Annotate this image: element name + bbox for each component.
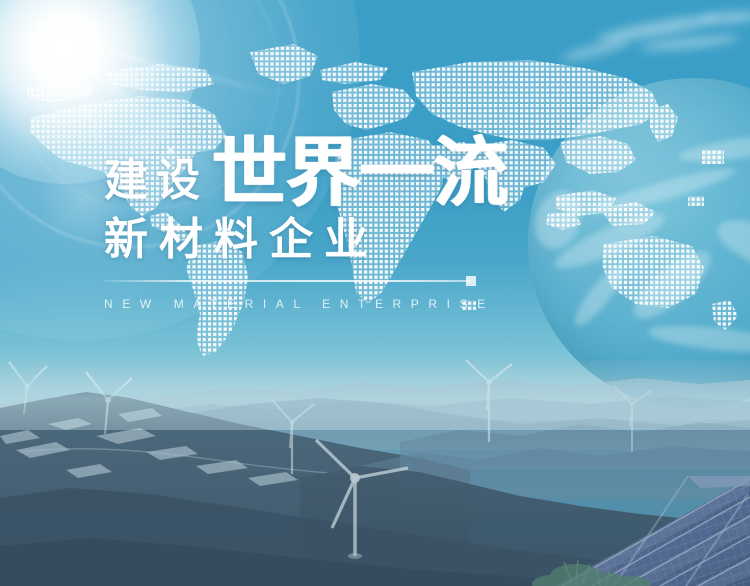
headline-prefix: 建设	[104, 159, 208, 210]
divider-end-marker	[466, 276, 476, 286]
hero-banner: 建设 世界一流 新材料企业 NEW MATERIAL ENTERPRISE	[0, 0, 750, 586]
subtitle: NEW MATERIAL ENTERPRISE	[104, 297, 664, 311]
horizon-haze	[0, 360, 750, 430]
headline-line-2: 新材料企业	[104, 216, 664, 264]
divider	[104, 280, 470, 282]
headline-emphasis: 世界一流	[212, 135, 507, 210]
headline-line-1: 建设 世界一流	[104, 128, 664, 210]
headline-block: 建设 世界一流 新材料企业 NEW MATERIAL ENTERPRISE	[104, 128, 664, 311]
